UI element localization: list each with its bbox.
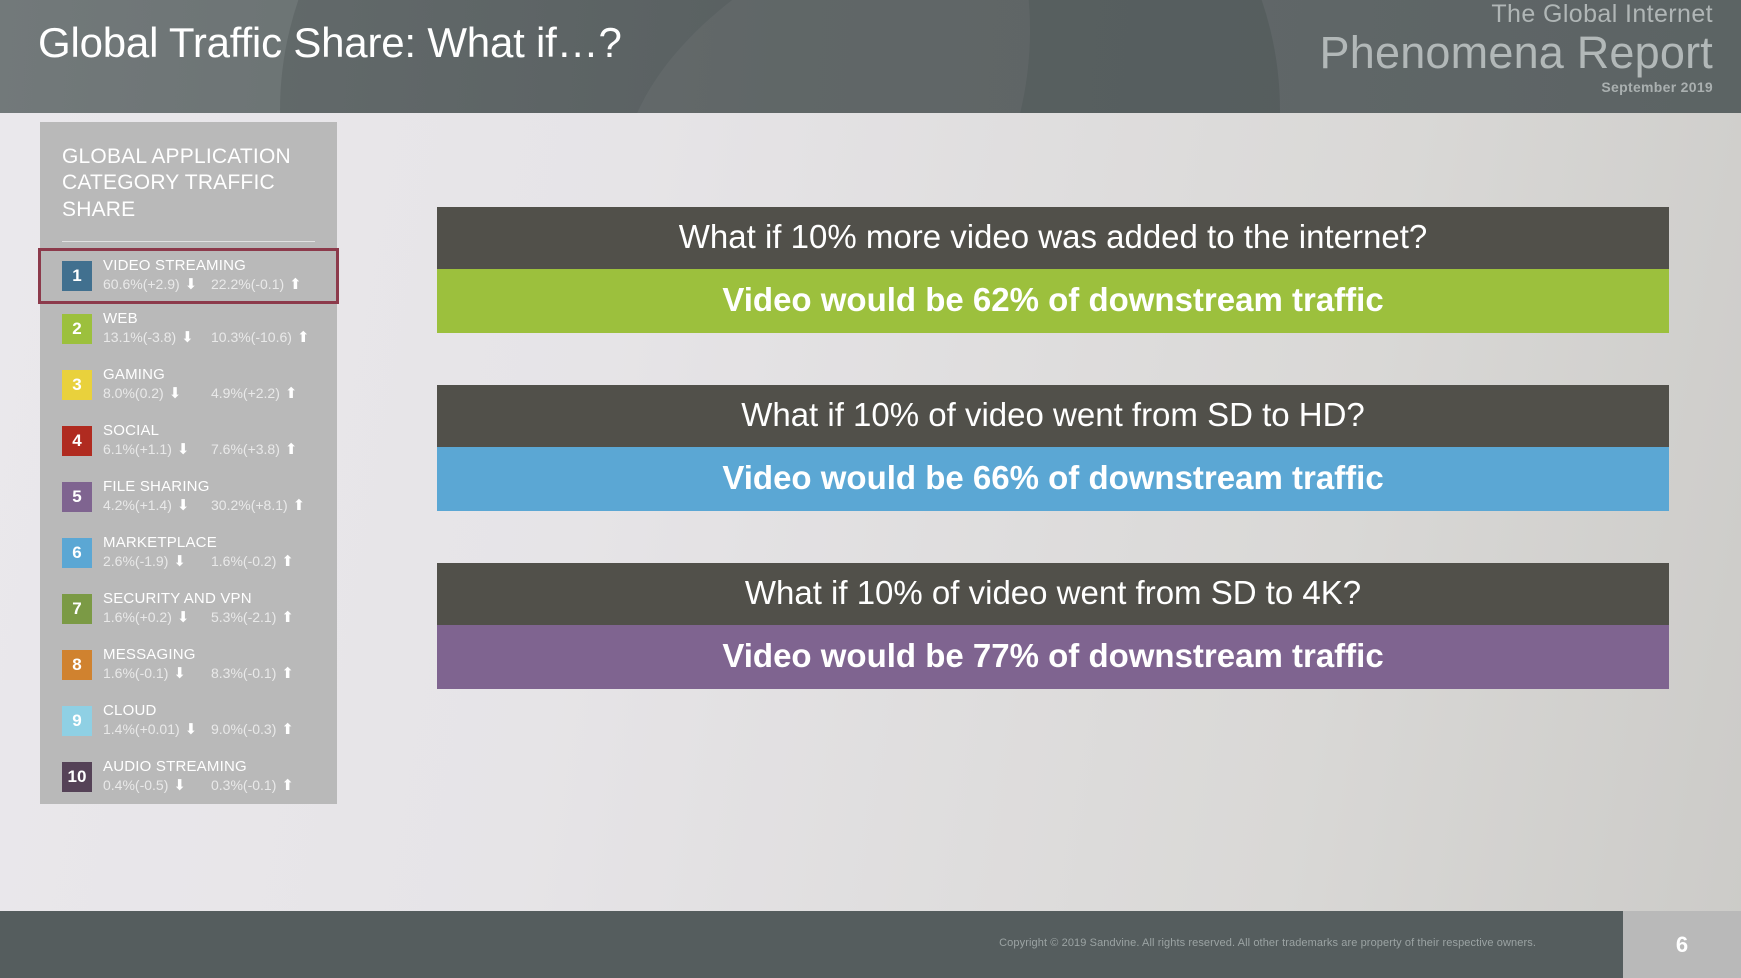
up-arrow-icon: ⬆	[285, 442, 298, 457]
upstream-value: 5.3%(-2.1)	[211, 609, 276, 625]
rank-badge: 7	[62, 594, 92, 624]
scenario-question: What if 10% more video was added to the …	[437, 207, 1669, 269]
brand-date: September 2019	[1320, 79, 1713, 95]
down-arrow-icon: ⬇	[177, 610, 190, 625]
category-name: SECURITY AND VPN	[103, 590, 327, 607]
category-text: SOCIAL6.1%(+1.1)⬇7.6%(+3.8)⬆	[103, 422, 327, 457]
category-row[interactable]: 5FILE SHARING4.2%(+1.4)⬇30.2%(+8.1)⬆	[40, 472, 337, 528]
upstream-value: 0.3%(-0.1)	[211, 777, 276, 793]
category-name: VIDEO STREAMING	[103, 257, 326, 274]
scenario-block: What if 10% more video was added to the …	[437, 207, 1669, 333]
downstream-stat: 1.4%(+0.01)⬇	[103, 721, 211, 737]
category-text: WEB13.1%(-3.8)⬇10.3%(-10.6)⬆	[103, 310, 327, 345]
category-name: FILE SHARING	[103, 478, 327, 495]
upstream-stat: 9.0%(-0.3)⬆	[211, 721, 294, 737]
category-name: CLOUD	[103, 702, 327, 719]
category-text: CLOUD1.4%(+0.01)⬇9.0%(-0.3)⬆	[103, 702, 327, 737]
upstream-value: 7.6%(+3.8)	[211, 441, 280, 457]
scenario-question: What if 10% of video went from SD to 4K?	[437, 563, 1669, 625]
category-row[interactable]: 4SOCIAL6.1%(+1.1)⬇7.6%(+3.8)⬆	[40, 416, 337, 472]
category-row[interactable]: 1VIDEO STREAMING60.6%(+2.9)⬇22.2%(-0.1)⬆	[38, 248, 339, 304]
upstream-stat: 7.6%(+3.8)⬆	[211, 441, 297, 457]
sidebar-heading: GLOBAL APPLICATION CATEGORY TRAFFIC SHAR…	[40, 142, 337, 223]
rank-badge: 1	[62, 261, 92, 291]
category-stats: 13.1%(-3.8)⬇10.3%(-10.6)⬆	[103, 329, 327, 345]
downstream-value: 1.6%(+0.2)	[103, 609, 172, 625]
copyright-text: Copyright © 2019 Sandvine. All rights re…	[999, 937, 1536, 949]
report-branding: The Global Internet Phenomena Report Sep…	[1320, 2, 1713, 95]
rank-badge: 2	[62, 314, 92, 344]
brand-subtitle: The Global Internet	[1320, 2, 1713, 27]
upstream-stat: 22.2%(-0.1)⬆	[211, 276, 302, 292]
scenario-answer: Video would be 77% of downstream traffic	[437, 625, 1669, 689]
category-stats: 1.6%(-0.1)⬇8.3%(-0.1)⬆	[103, 665, 327, 681]
category-name: GAMING	[103, 366, 327, 383]
upstream-stat: 1.6%(-0.2)⬆	[211, 553, 294, 569]
up-arrow-icon: ⬆	[281, 666, 294, 681]
category-text: SECURITY AND VPN1.6%(+0.2)⬇5.3%(-2.1)⬆	[103, 590, 327, 625]
page-title: Global Traffic Share: What if…?	[38, 19, 622, 67]
downstream-value: 8.0%(0.2)	[103, 385, 164, 401]
page-number: 6	[1623, 911, 1741, 978]
category-stats: 60.6%(+2.9)⬇22.2%(-0.1)⬆	[103, 276, 326, 292]
downstream-stat: 1.6%(-0.1)⬇	[103, 665, 211, 681]
category-name: AUDIO STREAMING	[103, 758, 327, 775]
rank-badge: 3	[62, 370, 92, 400]
scenario-answer: Video would be 62% of downstream traffic	[437, 269, 1669, 333]
scenario-list: What if 10% more video was added to the …	[437, 207, 1669, 741]
downstream-value: 6.1%(+1.1)	[103, 441, 172, 457]
slide-header: Global Traffic Share: What if…? The Glob…	[0, 0, 1741, 113]
category-name: WEB	[103, 310, 327, 327]
downstream-stat: 60.6%(+2.9)⬇	[103, 276, 211, 292]
slide: Global Traffic Share: What if…? The Glob…	[0, 0, 1741, 978]
down-arrow-icon: ⬇	[185, 277, 198, 292]
downstream-value: 13.1%(-3.8)	[103, 329, 176, 345]
rank-badge: 6	[62, 538, 92, 568]
down-arrow-icon: ⬇	[173, 778, 186, 793]
upstream-value: 9.0%(-0.3)	[211, 721, 276, 737]
category-text: AUDIO STREAMING0.4%(-0.5)⬇0.3%(-0.1)⬆	[103, 758, 327, 793]
downstream-stat: 2.6%(-1.9)⬇	[103, 553, 211, 569]
category-row[interactable]: 10AUDIO STREAMING0.4%(-0.5)⬇0.3%(-0.1)⬆	[40, 752, 337, 808]
category-stats: 6.1%(+1.1)⬇7.6%(+3.8)⬆	[103, 441, 327, 457]
downstream-stat: 0.4%(-0.5)⬇	[103, 777, 211, 793]
upstream-value: 4.9%(+2.2)	[211, 385, 280, 401]
rank-badge: 9	[62, 706, 92, 736]
upstream-stat: 0.3%(-0.1)⬆	[211, 777, 294, 793]
category-stats: 4.2%(+1.4)⬇30.2%(+8.1)⬆	[103, 497, 327, 513]
upstream-stat: 30.2%(+8.1)⬆	[211, 497, 305, 513]
category-name: MESSAGING	[103, 646, 327, 663]
downstream-stat: 13.1%(-3.8)⬇	[103, 329, 211, 345]
downstream-stat: 4.2%(+1.4)⬇	[103, 497, 211, 513]
category-row[interactable]: 9CLOUD1.4%(+0.01)⬇9.0%(-0.3)⬆	[40, 696, 337, 752]
category-stats: 8.0%(0.2)⬇4.9%(+2.2)⬆	[103, 385, 327, 401]
category-stats: 2.6%(-1.9)⬇1.6%(-0.2)⬆	[103, 553, 327, 569]
down-arrow-icon: ⬇	[173, 554, 186, 569]
down-arrow-icon: ⬇	[173, 666, 186, 681]
category-sidebar: GLOBAL APPLICATION CATEGORY TRAFFIC SHAR…	[40, 122, 337, 804]
downstream-value: 1.6%(-0.1)	[103, 665, 168, 681]
up-arrow-icon: ⬆	[289, 277, 302, 292]
downstream-stat: 6.1%(+1.1)⬇	[103, 441, 211, 457]
category-row[interactable]: 2WEB13.1%(-3.8)⬇10.3%(-10.6)⬆	[40, 304, 337, 360]
up-arrow-icon: ⬆	[281, 778, 294, 793]
category-row[interactable]: 6MARKETPLACE2.6%(-1.9)⬇1.6%(-0.2)⬆	[40, 528, 337, 584]
upstream-stat: 4.9%(+2.2)⬆	[211, 385, 297, 401]
scenario-block: What if 10% of video went from SD to 4K?…	[437, 563, 1669, 689]
category-text: GAMING8.0%(0.2)⬇4.9%(+2.2)⬆	[103, 366, 327, 401]
category-row[interactable]: 8MESSAGING1.6%(-0.1)⬇8.3%(-0.1)⬆	[40, 640, 337, 696]
rank-badge: 4	[62, 426, 92, 456]
downstream-value: 1.4%(+0.01)	[103, 721, 180, 737]
rank-badge: 10	[62, 762, 92, 792]
category-name: MARKETPLACE	[103, 534, 327, 551]
up-arrow-icon: ⬆	[281, 554, 294, 569]
downstream-stat: 8.0%(0.2)⬇	[103, 385, 211, 401]
upstream-value: 22.2%(-0.1)	[211, 276, 284, 292]
upstream-value: 30.2%(+8.1)	[211, 497, 288, 513]
brand-title: Phenomena Report	[1320, 29, 1713, 76]
downstream-value: 2.6%(-1.9)	[103, 553, 168, 569]
downstream-value: 60.6%(+2.9)	[103, 276, 180, 292]
down-arrow-icon: ⬇	[177, 498, 190, 513]
category-stats: 1.6%(+0.2)⬇5.3%(-2.1)⬆	[103, 609, 327, 625]
upstream-value: 10.3%(-10.6)	[211, 329, 292, 345]
category-text: MARKETPLACE2.6%(-1.9)⬇1.6%(-0.2)⬆	[103, 534, 327, 569]
downstream-value: 0.4%(-0.5)	[103, 777, 168, 793]
down-arrow-icon: ⬇	[185, 722, 198, 737]
upstream-stat: 10.3%(-10.6)⬆	[211, 329, 310, 345]
category-name: SOCIAL	[103, 422, 327, 439]
upstream-stat: 8.3%(-0.1)⬆	[211, 665, 294, 681]
up-arrow-icon: ⬆	[281, 610, 294, 625]
sidebar-divider	[62, 241, 315, 242]
rank-badge: 5	[62, 482, 92, 512]
down-arrow-icon: ⬇	[181, 330, 194, 345]
up-arrow-icon: ⬆	[285, 386, 298, 401]
slide-footer: Copyright © 2019 Sandvine. All rights re…	[0, 911, 1741, 978]
category-list: 1VIDEO STREAMING60.6%(+2.9)⬇22.2%(-0.1)⬆…	[40, 248, 337, 808]
scenario-block: What if 10% of video went from SD to HD?…	[437, 385, 1669, 511]
down-arrow-icon: ⬇	[169, 386, 182, 401]
category-row[interactable]: 7SECURITY AND VPN1.6%(+0.2)⬇5.3%(-2.1)⬆	[40, 584, 337, 640]
upstream-value: 1.6%(-0.2)	[211, 553, 276, 569]
category-text: MESSAGING1.6%(-0.1)⬇8.3%(-0.1)⬆	[103, 646, 327, 681]
up-arrow-icon: ⬆	[281, 722, 294, 737]
up-arrow-icon: ⬆	[293, 498, 306, 513]
rank-badge: 8	[62, 650, 92, 680]
downstream-value: 4.2%(+1.4)	[103, 497, 172, 513]
down-arrow-icon: ⬇	[177, 442, 190, 457]
upstream-stat: 5.3%(-2.1)⬆	[211, 609, 294, 625]
downstream-stat: 1.6%(+0.2)⬇	[103, 609, 211, 625]
scenario-answer: Video would be 66% of downstream traffic	[437, 447, 1669, 511]
up-arrow-icon: ⬆	[297, 330, 310, 345]
category-text: VIDEO STREAMING60.6%(+2.9)⬇22.2%(-0.1)⬆	[103, 257, 326, 292]
category-stats: 0.4%(-0.5)⬇0.3%(-0.1)⬆	[103, 777, 327, 793]
category-text: FILE SHARING4.2%(+1.4)⬇30.2%(+8.1)⬆	[103, 478, 327, 513]
upstream-value: 8.3%(-0.1)	[211, 665, 276, 681]
category-stats: 1.4%(+0.01)⬇9.0%(-0.3)⬆	[103, 721, 327, 737]
category-row[interactable]: 3GAMING8.0%(0.2)⬇4.9%(+2.2)⬆	[40, 360, 337, 416]
scenario-question: What if 10% of video went from SD to HD?	[437, 385, 1669, 447]
